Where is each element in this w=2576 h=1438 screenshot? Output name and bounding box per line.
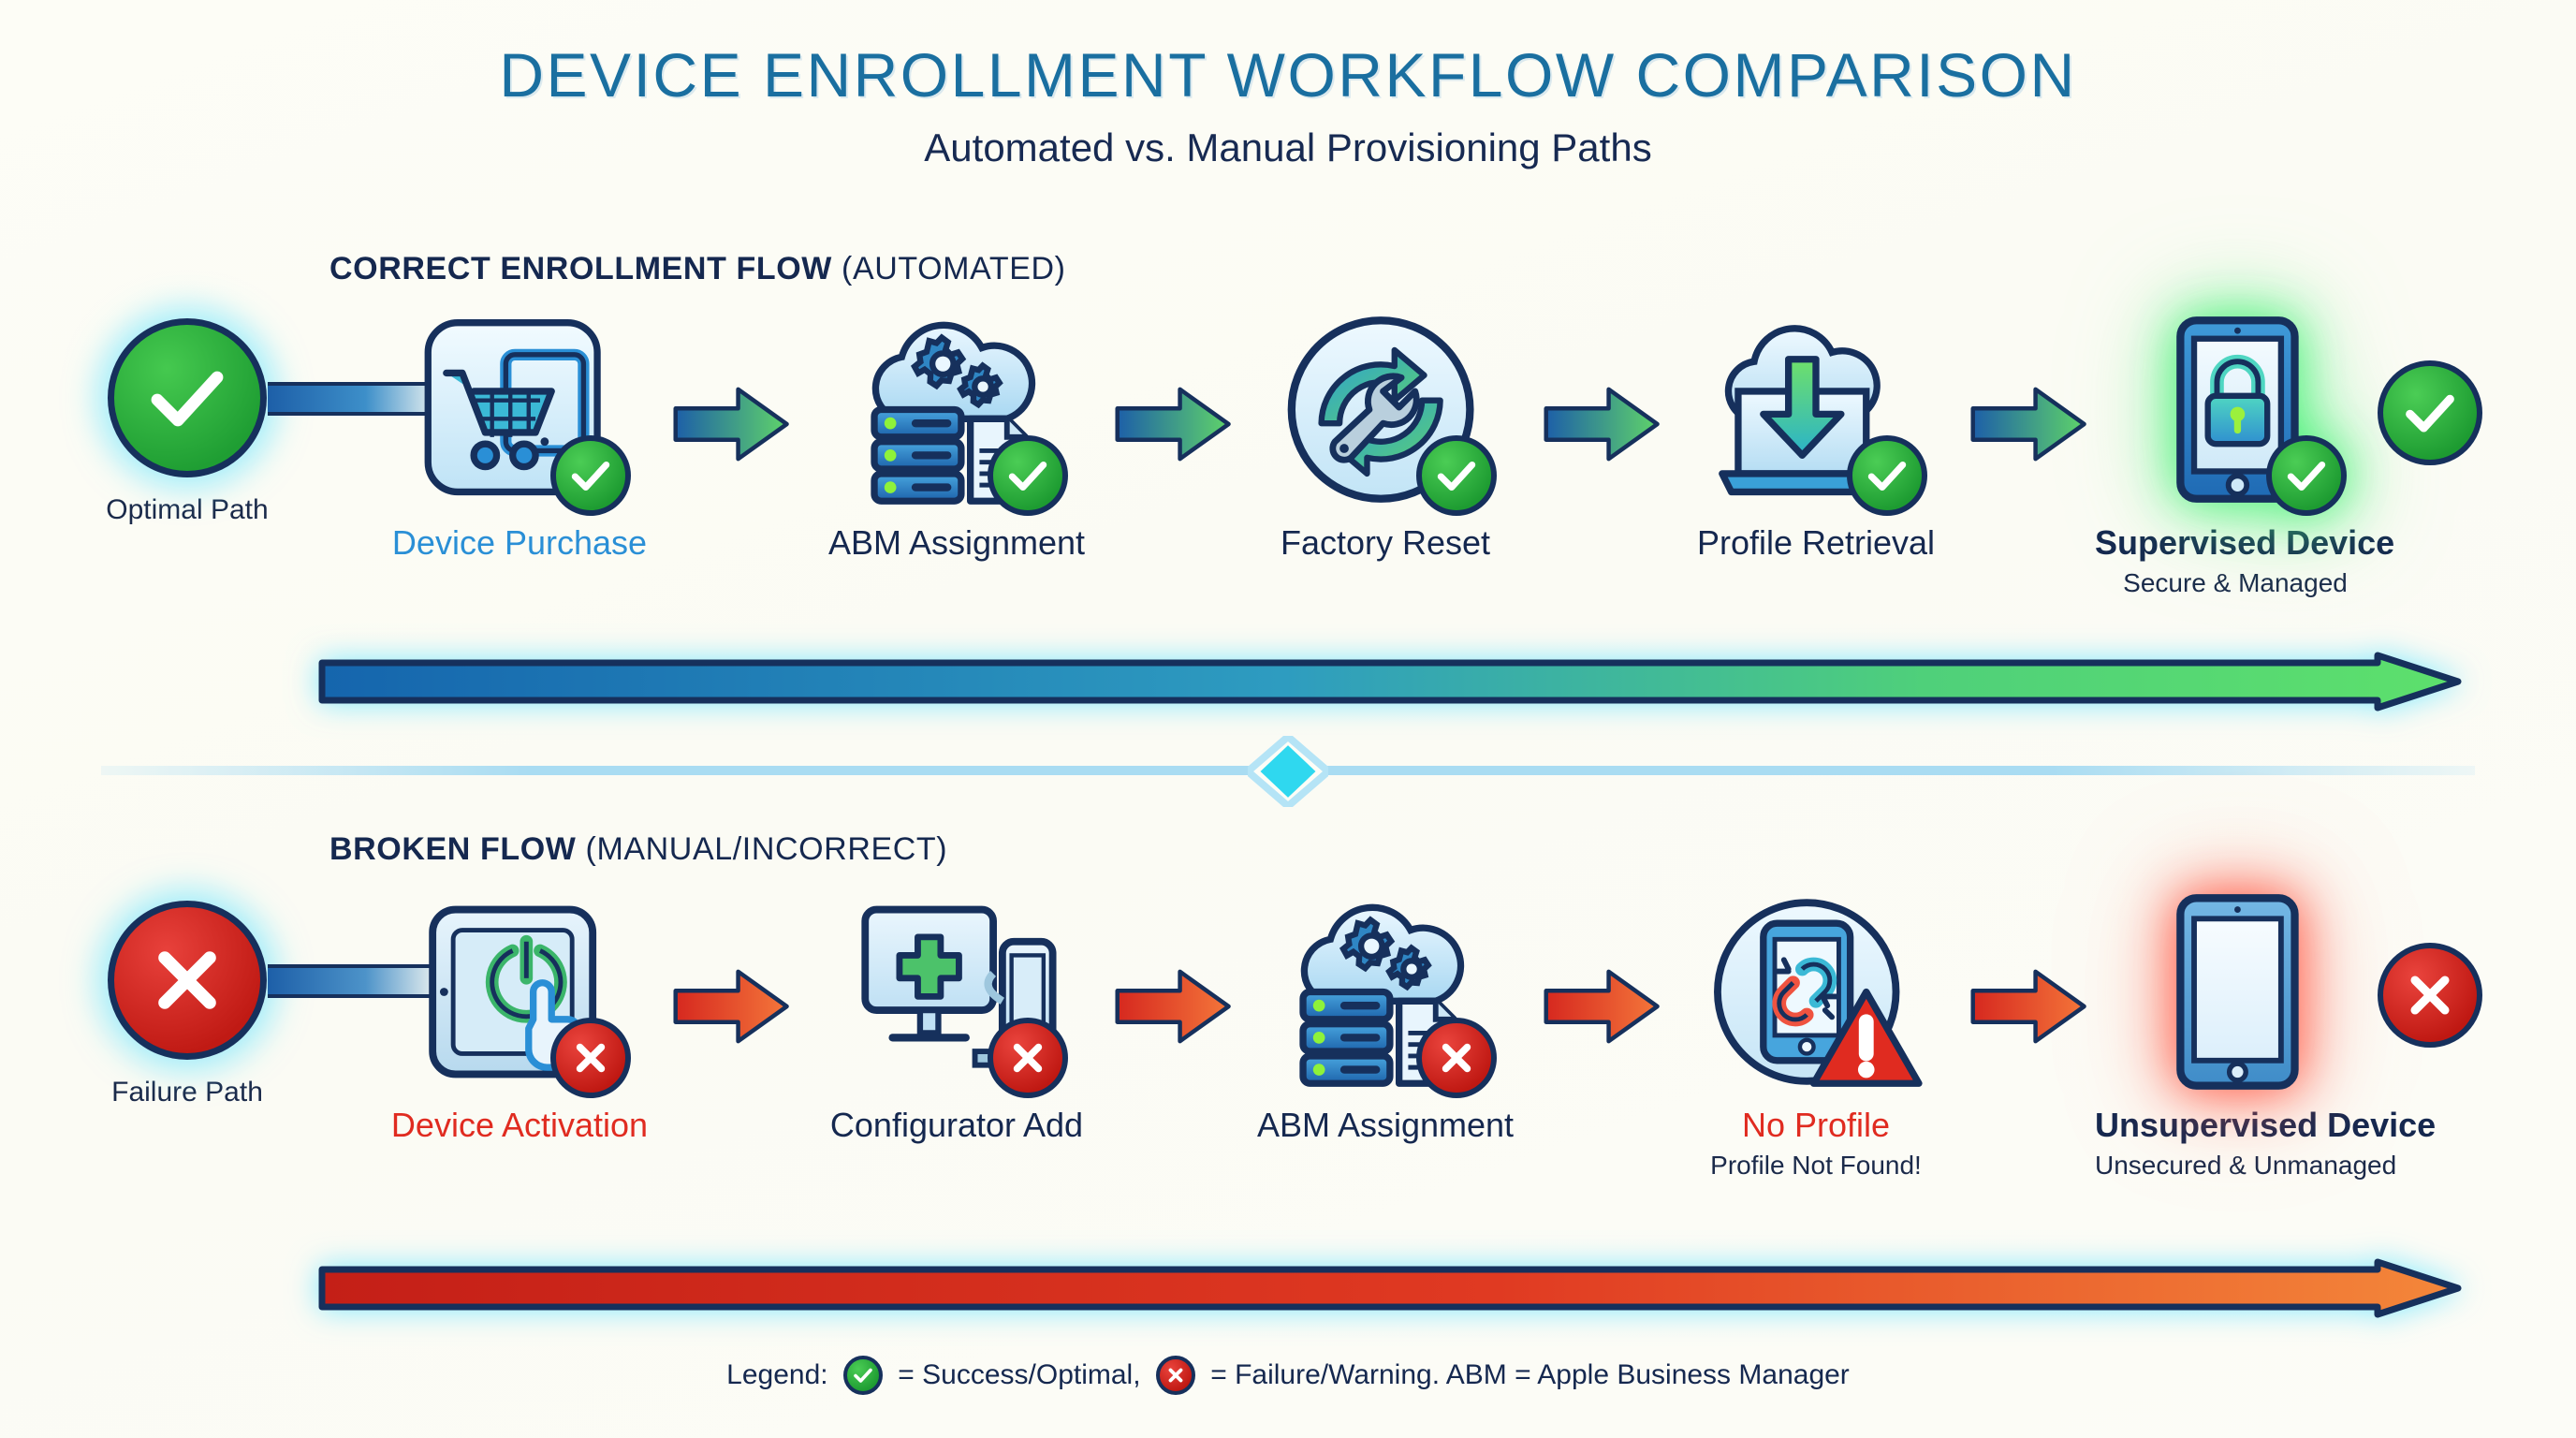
status-badge-success	[1847, 435, 1927, 516]
failure-path-badge: Failure Path	[94, 901, 281, 1108]
node-configurator-add[interactable]: Configurator Add	[816, 891, 1097, 1145]
tablet-blank-icon	[2118, 891, 2352, 1093]
node-abm-assignment-broken[interactable]: ABM Assignment	[1245, 891, 1526, 1145]
flow-arrow-right-icon	[1969, 382, 2091, 466]
broken-link-tablet-warning-icon	[1699, 891, 1933, 1093]
node-label: Configurator Add	[816, 1106, 1097, 1145]
legend-failure-text: = Failure/Warning. ABM = Apple Business …	[1203, 1359, 1850, 1391]
node-label: Supervised Device	[2095, 523, 2376, 563]
cloud-gears-server-doc-icon	[1268, 891, 1502, 1093]
node-label: Factory Reset	[1245, 523, 1526, 563]
broken-flow-row: Failure Path	[0, 891, 2576, 1200]
flow-arrow-right-icon	[1969, 964, 2091, 1049]
status-badge-failure	[1416, 1018, 1497, 1098]
failure-path-label: Failure Path	[94, 1077, 281, 1108]
node-no-profile[interactable]: No Profile Profile Not Found!	[1676, 891, 1956, 1181]
check-circle-icon	[108, 318, 267, 477]
cloud-gears-server-doc-icon	[840, 309, 1074, 510]
node-device-activation[interactable]: Device Activation	[379, 891, 660, 1145]
section-header-correct-strong: CORRECT ENROLLMENT FLOW	[329, 251, 842, 286]
flow-arrow-right-icon	[1114, 382, 1236, 466]
progress-arrow-broken	[318, 1262, 2462, 1314]
node-label: Profile Retrieval	[1676, 523, 1956, 563]
legend: Legend: = Success/Optimal, = Failure/War…	[0, 1356, 2576, 1395]
check-circle-icon	[2378, 360, 2482, 465]
check-circle-icon	[843, 1356, 883, 1395]
status-badge-failure	[988, 1018, 1068, 1098]
status-badge-success	[1416, 435, 1497, 516]
status-badge-failure	[550, 1018, 631, 1098]
page-subtitle: Automated vs. Manual Provisioning Paths	[0, 125, 2576, 170]
node-device-purchase[interactable]: Device Purchase	[379, 309, 660, 563]
flow-arrow-right-icon	[1543, 382, 1664, 466]
status-badge-success	[550, 435, 631, 516]
header: DEVICE ENROLLMENT WORKFLOW COMPARISON Au…	[0, 0, 2576, 170]
section-header-broken-strong: BROKEN FLOW	[329, 831, 586, 867]
x-circle-icon	[2378, 943, 2482, 1048]
status-badge-success	[2266, 435, 2347, 516]
node-label: Unsupervised Device	[2095, 1106, 2376, 1145]
node-sublabel: Unsecured & Unmanaged	[2095, 1151, 2376, 1181]
node-supervised-device[interactable]: Supervised Device Secure & Managed	[2095, 309, 2376, 598]
flow-arrow-right-icon	[672, 964, 794, 1049]
node-unsupervised-device[interactable]: Unsupervised Device Unsecured & Unmanage…	[2095, 891, 2376, 1181]
flow-arrow-right-icon	[672, 382, 794, 466]
optimal-path-badge: Optimal Path	[94, 318, 281, 526]
optimal-path-label: Optimal Path	[94, 494, 281, 526]
desktop-plus-device-icon	[840, 891, 1074, 1093]
page-title: DEVICE ENROLLMENT WORKFLOW COMPARISON	[0, 39, 2576, 110]
node-label: ABM Assignment	[1245, 1106, 1526, 1145]
node-abm-assignment-correct[interactable]: ABM Assignment	[816, 309, 1097, 563]
section-header-correct-light: (AUTOMATED)	[842, 251, 1066, 286]
node-label: Device Purchase	[379, 523, 660, 563]
section-header-broken-light: (MANUAL/INCORRECT)	[586, 831, 948, 867]
flow-arrow-right-icon	[1114, 964, 1236, 1049]
refresh-wrench-icon	[1268, 309, 1502, 510]
progress-arrow-correct	[318, 655, 2462, 708]
node-label: Device Activation	[379, 1106, 660, 1145]
tablet-power-tap-icon	[402, 891, 637, 1093]
node-sublabel: Profile Not Found!	[1676, 1151, 1956, 1181]
legend-success-text: = Success/Optimal,	[890, 1359, 1149, 1391]
node-label: ABM Assignment	[816, 523, 1097, 563]
x-circle-icon	[1156, 1356, 1195, 1395]
infographic-canvas: DEVICE ENROLLMENT WORKFLOW COMPARISON Au…	[0, 0, 2576, 1438]
node-label: No Profile	[1676, 1106, 1956, 1145]
section-header-correct: CORRECT ENROLLMENT FLOW (AUTOMATED)	[329, 251, 1066, 287]
node-factory-reset[interactable]: Factory Reset	[1245, 309, 1526, 563]
status-badge-success	[988, 435, 1068, 516]
shopping-cart-tablet-icon	[402, 309, 637, 510]
cloud-download-laptop-icon	[1699, 309, 1933, 510]
node-sublabel: Secure & Managed	[2095, 568, 2376, 598]
correct-flow-row: Optimal Path	[0, 309, 2576, 618]
node-profile-retrieval[interactable]: Profile Retrieval	[1676, 309, 1956, 563]
section-header-broken: BROKEN FLOW (MANUAL/INCORRECT)	[329, 831, 947, 868]
legend-prefix: Legend:	[726, 1359, 836, 1391]
diamond-icon	[1248, 736, 1328, 807]
tablet-lock-icon	[2118, 309, 2352, 510]
x-circle-icon	[108, 901, 267, 1060]
flow-arrow-right-icon	[1543, 964, 1664, 1049]
